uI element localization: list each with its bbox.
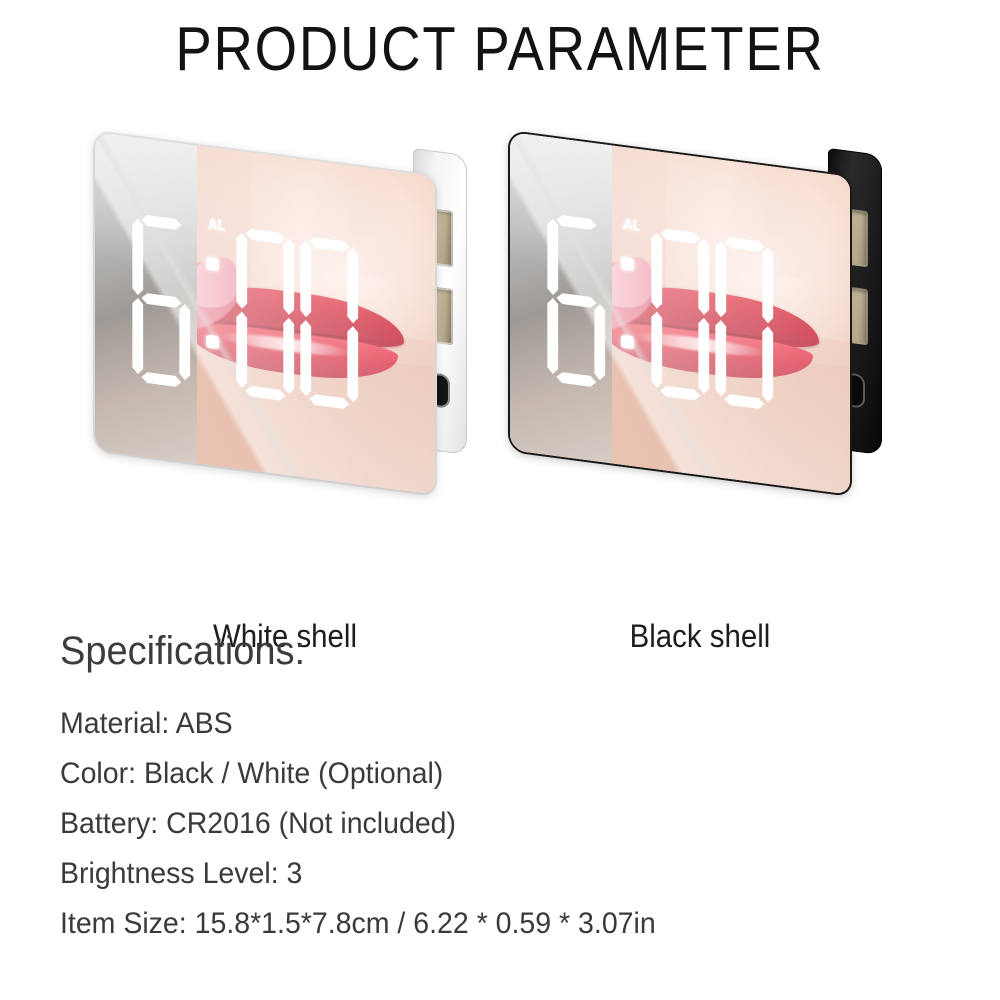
mirror-reflection-photo (510, 132, 850, 495)
specifications-heading: Specifications: (60, 625, 896, 677)
spec-line-item-size: Item Size: 15.8*1.5*7.8cm / 6.22 * 0.59 … (60, 899, 896, 949)
spec-line-brightness: Brightness Level: 3 (60, 849, 896, 899)
specifications-section: Specifications: Material: ABS Color: Bla… (60, 625, 940, 949)
mirror-screen-white: AL (95, 132, 435, 495)
spec-line-battery: Battery: CR2016 (Not included) (60, 799, 896, 849)
spec-line-material: Material: ABS (60, 699, 896, 749)
mirror-gray-region (95, 132, 197, 463)
spec-line-color: Color: Black / White (Optional) (60, 749, 896, 799)
product-black-shell[interactable]: AL (490, 110, 910, 470)
product-white-shell[interactable]: AL (75, 110, 495, 470)
mirror-gray-region (510, 132, 612, 463)
mirror-reflection-photo (95, 132, 435, 495)
product-gallery: AL (0, 110, 1000, 560)
page-title: PRODUCT PARAMETER (60, 14, 940, 86)
clock-body-black: AL (510, 132, 882, 462)
mirror-screen-black: AL (510, 132, 850, 495)
clock-body-white: AL (95, 132, 467, 462)
